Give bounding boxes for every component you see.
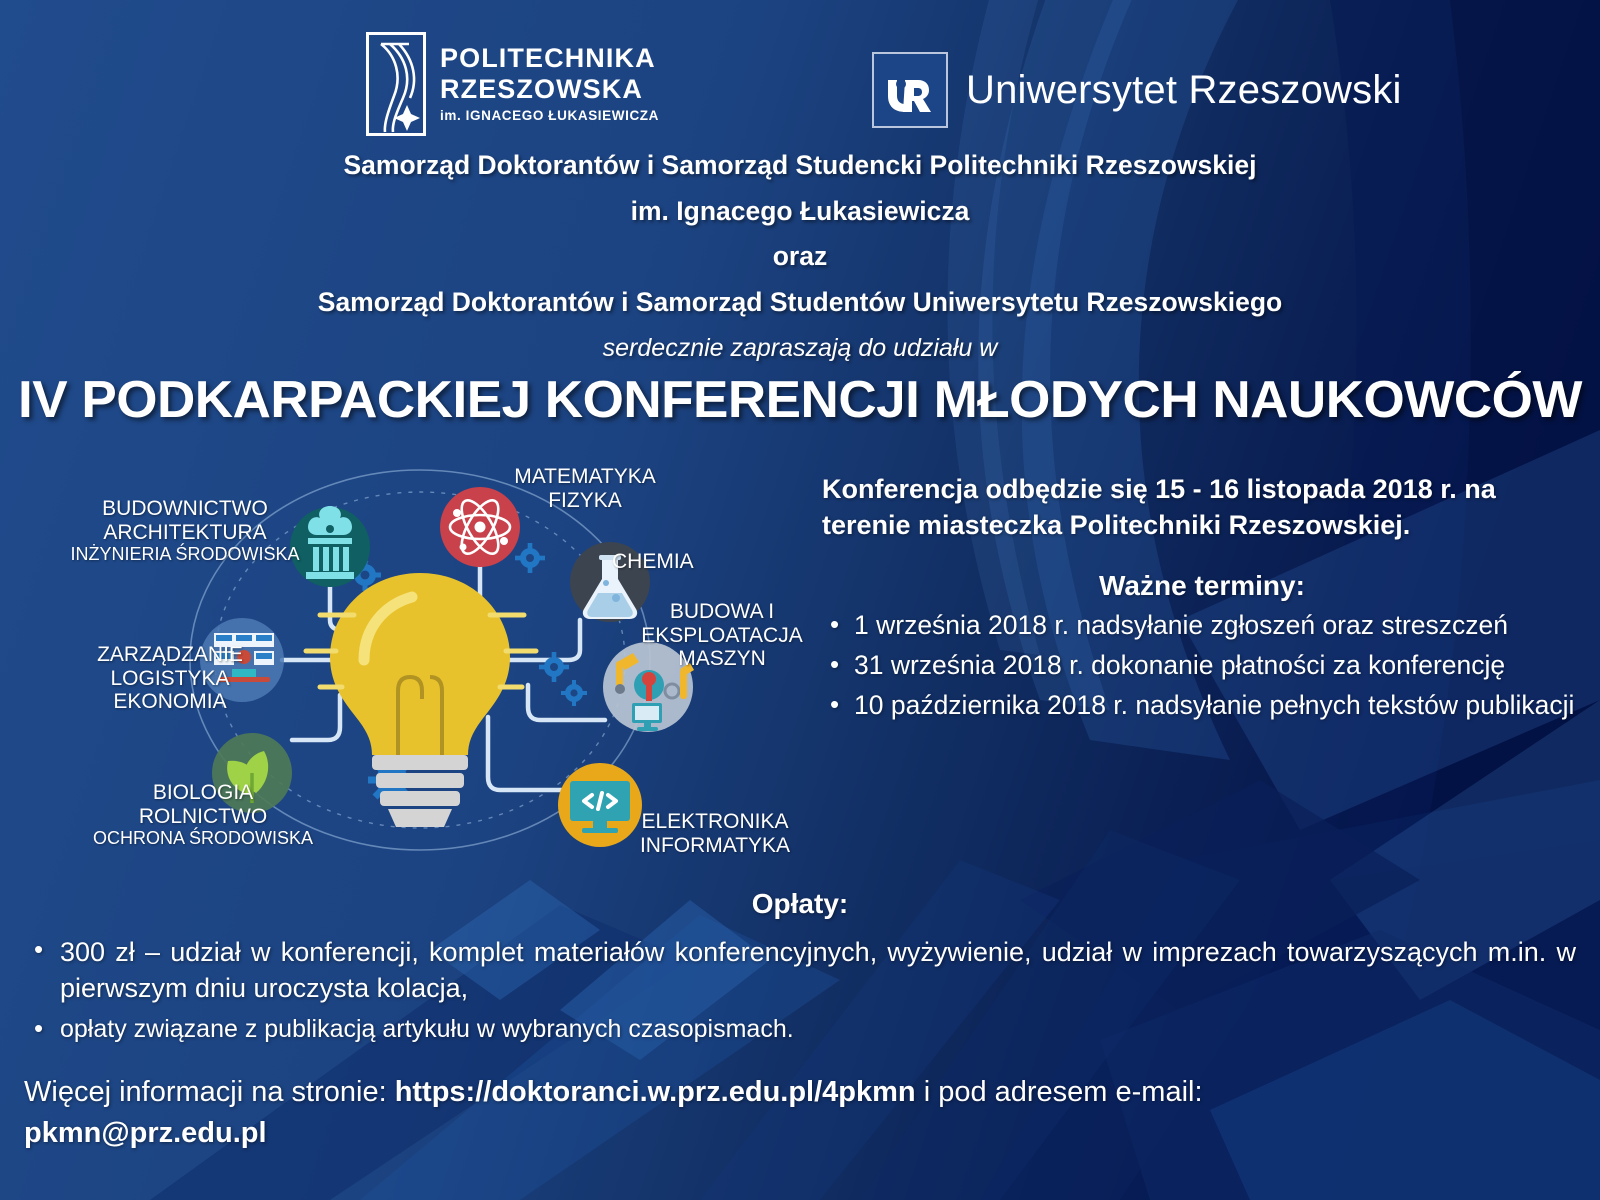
prz-mark-icon	[366, 32, 426, 136]
page-title: IV PODKARPACKIEJ KONFERENCJI MŁODYCH NAU…	[0, 370, 1600, 430]
footer-middle: i pod adresem e-mail:	[916, 1076, 1203, 1108]
footer-prefix: Więcej informacji na stronie:	[24, 1076, 395, 1108]
prz-line1: POLITECHNIKA	[440, 45, 659, 72]
list-item: 10 października 2018 r. nadsyłanie pełny…	[822, 688, 1582, 723]
label-elektronika: ELEKTRONIKA INFORMATYKA	[620, 810, 810, 857]
list-item: 300 zł – udział w konferencji, komplet m…	[24, 934, 1576, 1007]
logo-row: POLITECHNIKA RZESZOWSKA im. IGNACEGO ŁUK…	[0, 18, 1600, 146]
prz-line3: im. IGNACEGO ŁUKASIEWICZA	[440, 109, 659, 123]
prz-line2: RZESZOWSKA	[440, 76, 659, 103]
ur-mark-icon	[872, 52, 948, 128]
header-line-2: im. Ignacego Łukasiewicza	[0, 198, 1600, 225]
label-budownictwo: BUDOWNICTWO ARCHITEKTURA INŻYNIERIA ŚROD…	[50, 497, 320, 564]
conference-when: Konferencja odbędzie się 15 - 16 listopa…	[822, 472, 1582, 544]
label-chemia: CHEMIA	[612, 550, 772, 574]
fees-heading: Opłaty:	[24, 888, 1576, 920]
list-item: 31 września 2018 r. dokonanie płatności …	[822, 648, 1582, 683]
header-line-4: Samorząd Doktorantów i Samorząd Studentó…	[0, 289, 1600, 316]
contact-email[interactable]: pkmn@prz.edu.pl	[24, 1117, 267, 1149]
deadlines-heading: Ważne terminy:	[822, 570, 1582, 602]
list-item: 1 września 2018 r. nadsyłanie zgłoszeń o…	[822, 608, 1582, 643]
invitation-line: serdecznie zapraszają do udziału w	[0, 334, 1600, 363]
ur-label: Uniwersytet Rzeszowski	[966, 68, 1402, 113]
header-block: Samorząd Doktorantów i Samorząd Studenck…	[0, 152, 1600, 363]
footer-contact: Więcej informacji na stronie: https://do…	[24, 1072, 1580, 1153]
conference-details: Konferencja odbędzie się 15 - 16 listopa…	[822, 472, 1582, 723]
header-line-1: Samorząd Doktorantów i Samorząd Studenck…	[0, 152, 1600, 179]
deadlines-list: 1 września 2018 r. nadsyłanie zgłoszeń o…	[822, 608, 1582, 723]
label-biologia: BIOLOGIA ROLNICTWO OCHRONA ŚRODOWISKA	[68, 781, 338, 848]
list-item: opłaty związane z publikacją artykułu w …	[24, 1013, 1576, 1047]
header-line-3: oraz	[0, 243, 1600, 270]
fees-list: 300 zł – udział w konferencji, komplet m…	[24, 934, 1576, 1047]
science-fields-infographic: BUDOWNICTWO ARCHITEKTURA INŻYNIERIA ŚROD…	[20, 455, 820, 875]
fees-section: Opłaty: 300 zł – udział w konferencji, k…	[24, 888, 1576, 1047]
politechnika-rzeszowska-logo: POLITECHNIKA RZESZOWSKA im. IGNACEGO ŁUK…	[366, 32, 659, 136]
label-maszyny: BUDOWA I EKSPLOATACJA MASZYN	[632, 600, 812, 671]
uniwersytet-rzeszowski-logo: Uniwersytet Rzeszowski	[872, 52, 1402, 128]
conference-poster: POLITECHNIKA RZESZOWSKA im. IGNACEGO ŁUK…	[0, 0, 1600, 1200]
conference-url[interactable]: https://doktoranci.w.prz.edu.pl/4pkmn	[395, 1076, 916, 1108]
label-matematyka: MATEMATYKA FIZYKA	[475, 465, 695, 512]
label-zarzadzanie: ZARZĄDZANIE LOGISTYKA EKONOMIA	[60, 643, 280, 714]
